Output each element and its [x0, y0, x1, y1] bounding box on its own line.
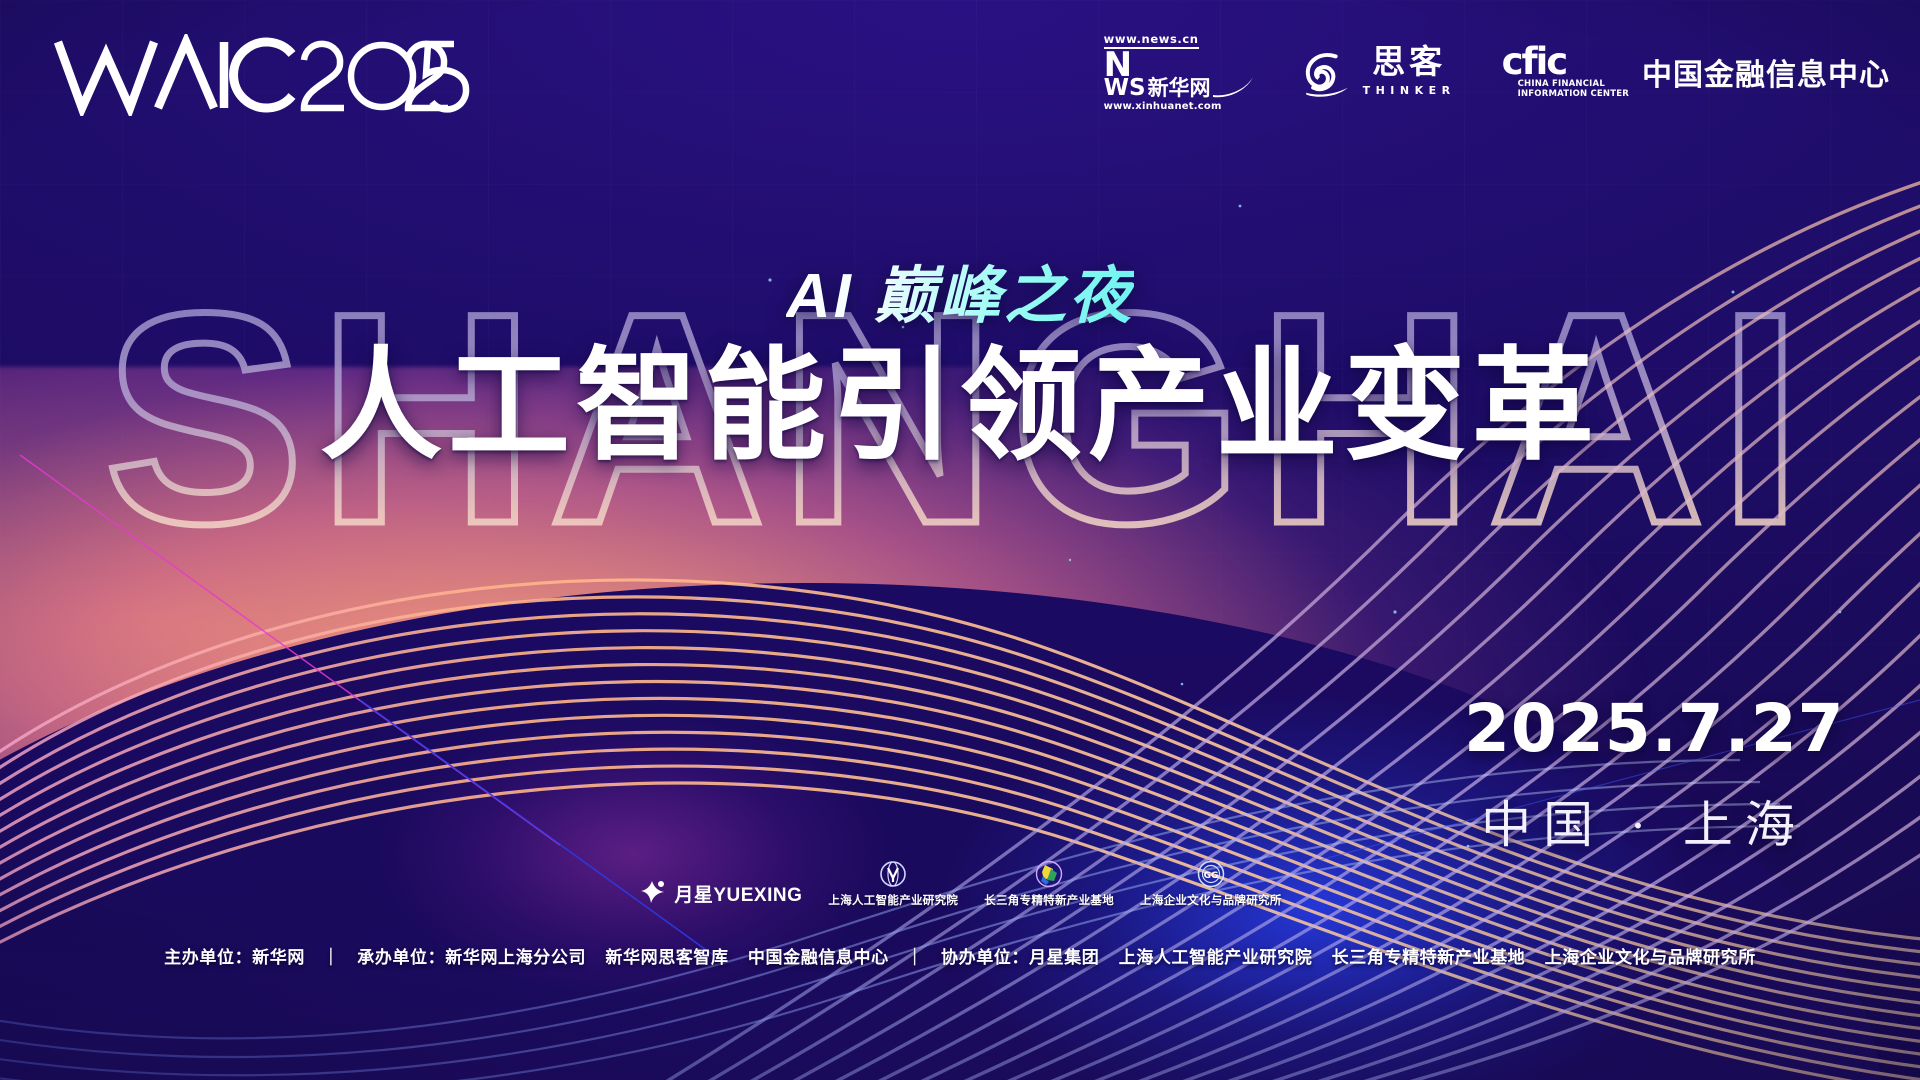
footer-organizer-2: 新华网思客智库	[605, 948, 728, 967]
thinker-cn-name: 思客	[1372, 47, 1446, 80]
footer-coorg-1: 协办单位：月星集团	[941, 948, 1099, 967]
sponsor-scbri: GG 上海企业文化与品牌研究所	[1140, 860, 1282, 908]
cfic-cn-name: 中国金融信息中心	[1642, 50, 1890, 94]
sponsor-yuexing: 月星YUEXING	[638, 878, 802, 908]
footer-coorg-3: 长三角专精特新产业基地	[1332, 948, 1526, 967]
logo-xinhuanet: www.news.cn N WS 新华网 www.xinhuanet.com	[1104, 32, 1255, 112]
event-date-group: 2025.7.27 中国 · 上海	[1464, 690, 1824, 857]
event-subtitle: AI 巅峰之夜	[786, 262, 1134, 331]
sponsor-label: 上海企业文化与品牌研究所	[1140, 892, 1282, 908]
sponsor-logo-strip: 月星YUEXING 上海人工智能产业研究院	[0, 860, 1920, 908]
svg-text:GG: GG	[1203, 871, 1218, 881]
event-location: 中国 · 上海	[1464, 785, 1824, 857]
xinhuanet-cn-name: 新华网	[1148, 78, 1211, 99]
footer-credits: 主办单位：新华网 ｜ 承办单位：新华网上海分公司 新华网思客智库 中国金融信息中…	[0, 943, 1920, 968]
sponsor-label: 长三角专精特新产业基地	[984, 892, 1114, 908]
cfic-wordmark: cfic	[1502, 45, 1567, 78]
partner-logo-bar: www.news.cn N WS 新华网 www.xinhuanet.com 思…	[1104, 32, 1890, 112]
logo-thinker: 思客 THINKER	[1301, 46, 1456, 98]
background-vignette	[0, 0, 1920, 1080]
saii-globe-icon	[878, 860, 908, 890]
waic-logo	[52, 34, 472, 116]
scbri-seal-icon: GG	[1196, 860, 1226, 890]
xinhuanet-url-bottom: www.xinhuanet.com	[1104, 101, 1222, 112]
footer-coorg-4: 上海企业文化与品牌研究所	[1545, 948, 1756, 967]
xinhuanet-swoosh-icon	[1211, 73, 1255, 99]
sponsor-yrd-base: 长三角专精特新产业基地	[984, 860, 1114, 908]
sponsor-label: 上海人工智能产业研究院	[828, 892, 958, 908]
xinhuanet-letter-ws: WS	[1104, 78, 1146, 99]
sponsor-saii: 上海人工智能产业研究院	[828, 860, 958, 908]
footer-coorg-2: 上海人工智能产业研究院	[1119, 948, 1313, 967]
footer-organizer-3: 中国金融信息中心	[748, 948, 889, 967]
headline-group: AI 巅峰之夜 人工智能引领产业变革	[0, 262, 1920, 479]
cfic-sub-line2: INFORMATION CENTER	[1518, 90, 1629, 100]
yrd-base-icon	[1034, 860, 1064, 890]
thinker-en-name: THINKER	[1363, 84, 1456, 97]
sponsor-label: 月星YUEXING	[674, 880, 802, 907]
footer-separator-2: ｜	[906, 948, 924, 967]
thinker-swirl-icon	[1301, 46, 1353, 98]
footer-organizer-1: 承办单位：新华网上海分公司	[357, 948, 586, 967]
event-main-title: 人工智能引领产业变革	[0, 335, 1920, 479]
footer-separator-1: ｜	[322, 948, 340, 967]
footer-host: 主办单位：新华网	[164, 948, 305, 967]
yuexing-star-icon	[638, 878, 668, 908]
logo-cfic: cfic CHINA FINANCIAL INFORMATION CENTER …	[1502, 45, 1890, 100]
event-date: 2025.7.27	[1464, 690, 1824, 767]
poster-canvas: SHANGHAI	[0, 0, 1920, 1080]
